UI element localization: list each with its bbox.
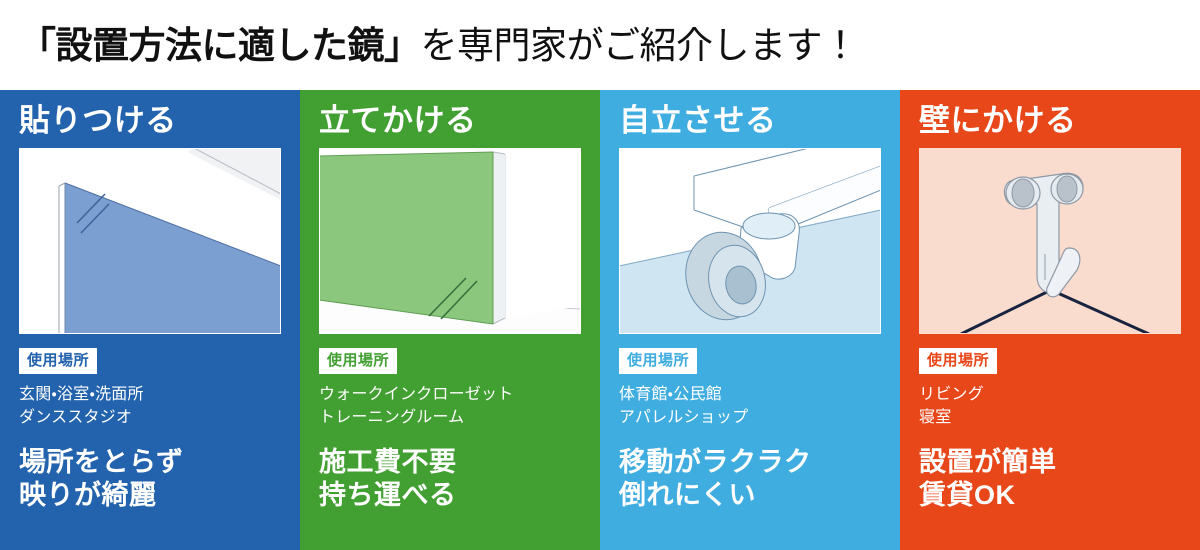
mirror-glued-to-wall-illustration <box>19 148 281 334</box>
place-item: 玄関・浴室・洗面所 <box>19 383 281 406</box>
panel-freestanding-places: 体育館・公民館 アパレルショップ <box>619 383 881 429</box>
panel-attach-benefits: 場所をとらず 映りが綺麗 <box>19 446 281 512</box>
wall-hook-illustration <box>919 148 1181 334</box>
panel-wall-hang-places: リビング 寝室 <box>919 383 1181 429</box>
place-item: ウォークインクローゼット <box>319 383 581 406</box>
panel-freestanding-heading: 自立させる <box>619 90 881 139</box>
panel-lean-benefits: 施工費不要 持ち運べる <box>319 446 581 512</box>
place-item: ダンススタジオ <box>19 406 281 429</box>
place-item: 体育館・公民館 <box>619 383 881 406</box>
page-title-rest: を専門家がご紹介します！ <box>421 25 859 66</box>
benefit-line: 倒れにくい <box>619 479 881 512</box>
panel-wall-hang[interactable]: 壁にかける <box>900 90 1200 550</box>
benefit-line: 持ち運べる <box>319 479 581 512</box>
mirror-leaning-on-wall-illustration <box>319 148 581 334</box>
panel-attach-places: 玄関・浴室・洗面所 ダンススタジオ <box>19 383 281 429</box>
benefit-line: 設置が簡単 <box>919 446 1181 479</box>
benefit-line: 映りが綺麗 <box>19 479 281 512</box>
page-title-quoted: 「設置方法に適した鏡」 <box>19 25 421 66</box>
panel-attach-heading: 貼りつける <box>19 90 281 139</box>
benefit-line: 場所をとらず <box>19 446 281 479</box>
panel-lean-badge-row: 使用場所 <box>319 348 581 374</box>
panel-freestanding[interactable]: 自立させる <box>600 90 900 550</box>
method-panels: 貼りつける <box>0 90 1200 550</box>
panel-freestanding-benefits: 移動がラクラク 倒れにくい <box>619 446 881 512</box>
page-title: 「設置方法に適した鏡」を専門家がご紹介します！ <box>19 27 859 64</box>
panel-lean-places: ウォークインクローゼット トレーニングルーム <box>319 383 581 429</box>
usage-badge: 使用場所 <box>619 348 697 374</box>
panel-wall-hang-heading: 壁にかける <box>919 90 1181 139</box>
caster-wheel-illustration <box>619 148 881 334</box>
place-item: リビング <box>919 383 1181 406</box>
panel-lean-heading: 立てかける <box>319 90 581 139</box>
usage-badge: 使用場所 <box>19 348 97 374</box>
panel-wall-hang-badge-row: 使用場所 <box>919 348 1181 374</box>
benefit-line: 施工費不要 <box>319 446 581 479</box>
benefit-line: 賃貸OK <box>919 479 1181 512</box>
panel-attach[interactable]: 貼りつける <box>0 90 300 550</box>
panel-wall-hang-benefits: 設置が簡単 賃貸OK <box>919 446 1181 512</box>
usage-badge: 使用場所 <box>919 348 997 374</box>
benefit-line: 移動がラクラク <box>619 446 881 479</box>
place-item: アパレルショップ <box>619 406 881 429</box>
place-item: トレーニングルーム <box>319 406 581 429</box>
infographic-root: 「設置方法に適した鏡」を専門家がご紹介します！ 貼りつける <box>0 0 1200 550</box>
header-bar: 「設置方法に適した鏡」を専門家がご紹介します！ <box>0 0 1200 90</box>
usage-badge: 使用場所 <box>319 348 397 374</box>
panel-freestanding-badge-row: 使用場所 <box>619 348 881 374</box>
panel-lean[interactable]: 立てかける <box>300 90 600 550</box>
place-item: 寝室 <box>919 406 1181 429</box>
panel-attach-badge-row: 使用場所 <box>19 348 281 374</box>
